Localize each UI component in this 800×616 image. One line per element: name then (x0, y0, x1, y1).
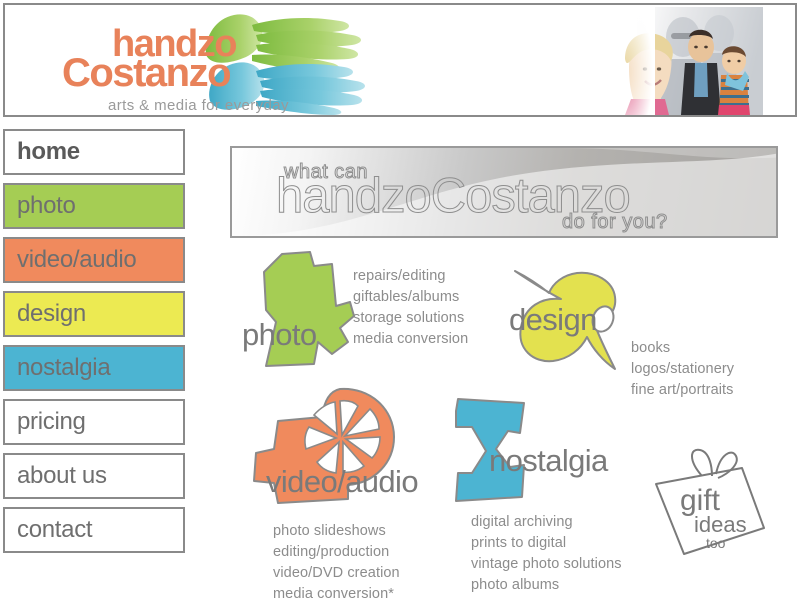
service-item: media conversion (353, 329, 468, 350)
logo-tagline: arts & media for everyday (108, 97, 289, 114)
nav-label: video/audio (17, 248, 136, 272)
service-item: photo slideshows (273, 521, 400, 542)
service-list-video-audio: photo slideshows editing/production vide… (273, 521, 400, 605)
nav-label: nostalgia (17, 356, 110, 380)
service-item: giftables/albums (353, 287, 468, 308)
nav-label: home (17, 140, 80, 164)
service-item: fine art/portraits (631, 380, 734, 401)
site-header: handzo Costanzo arts & media for everyda… (3, 3, 797, 117)
banner-line-bottom: do for you? (562, 212, 668, 232)
page-root: handzo Costanzo arts & media for everyda… (0, 0, 800, 616)
service-item: storage solutions (353, 308, 468, 329)
nav-label: pricing (17, 410, 86, 434)
service-item: digital archiving (471, 512, 622, 533)
service-item: video/DVD creation (273, 563, 400, 584)
nav-item-home[interactable]: home (3, 129, 185, 175)
service-list-nostalgia: digital archiving prints to digital vint… (471, 512, 622, 596)
main-content: what can handzoCostanzo do for you? phot… (228, 129, 798, 613)
service-list-photo: repairs/editing giftables/albums storage… (353, 266, 468, 350)
service-title-nostalgia: nostalgia (489, 445, 608, 476)
banner-text-group: what can handzoCostanzo do for you? (232, 148, 776, 236)
nav-item-nostalgia[interactable]: nostalgia (3, 345, 185, 391)
nav-item-design[interactable]: design (3, 291, 185, 337)
family-photo (615, 7, 763, 115)
service-item: editing/production (273, 542, 400, 563)
nav-label: design (17, 302, 86, 326)
service-item: vintage photo solutions (471, 554, 622, 575)
nav-label: photo (17, 194, 76, 218)
gift-line-2: ideas (694, 512, 747, 537)
logo-line-costanzo: Costanzo (62, 53, 230, 93)
nav-label: about us (17, 464, 107, 488)
service-title-design: design (509, 304, 597, 335)
service-item: repairs/editing (353, 266, 468, 287)
service-title-photo: photo (242, 319, 317, 350)
site-logo[interactable]: handzo Costanzo arts & media for everyda… (60, 9, 390, 115)
service-item: photo albums (471, 575, 622, 596)
gift-ideas-icon[interactable]: gift ideas too (646, 446, 772, 562)
service-item: media conversion* (273, 584, 400, 605)
nav-item-photo[interactable]: photo (3, 183, 185, 229)
nav-label: contact (17, 518, 92, 542)
nav-item-contact[interactable]: contact (3, 507, 185, 553)
service-item: logos/stationery (631, 359, 734, 380)
nav-item-about-us[interactable]: about us (3, 453, 185, 499)
main-navigation[interactable]: home photo video/audio design nostalgia … (3, 129, 185, 561)
service-list-design: books logos/stationery fine art/portrait… (631, 338, 734, 401)
hero-banner: what can handzoCostanzo do for you? (230, 146, 778, 238)
service-title-video-audio: video/audio (266, 466, 418, 497)
service-item: prints to digital (471, 533, 622, 554)
nav-item-pricing[interactable]: pricing (3, 399, 185, 445)
gift-line-3: too (706, 535, 726, 551)
service-item: books (631, 338, 734, 359)
nav-item-video-audio[interactable]: video/audio (3, 237, 185, 283)
